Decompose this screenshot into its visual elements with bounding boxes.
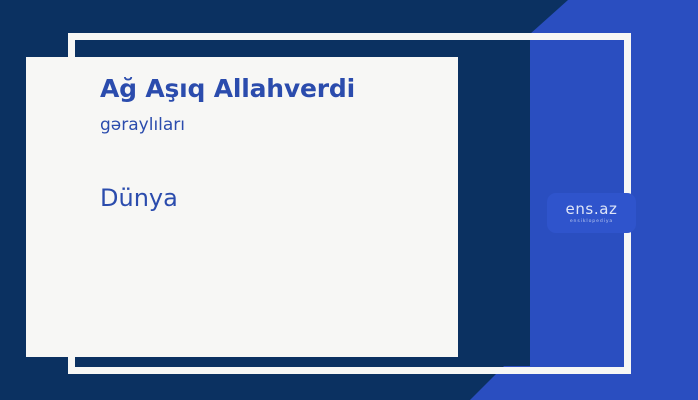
logo-wordmark: ens.az xyxy=(566,202,618,217)
title-slide: Ağ Aşıq Allahverdi gəraylıları Dünya ens… xyxy=(0,0,698,400)
page-subtitle: gəraylıları xyxy=(100,115,430,136)
page-title: Ağ Aşıq Allahverdi xyxy=(100,75,430,103)
logo-tagline: ensiklopediya xyxy=(570,220,613,225)
ens-az-logo-badge[interactable]: ens.az ensiklopediya xyxy=(547,193,636,233)
work-title: Dünya xyxy=(100,184,430,213)
title-text-block: Ağ Aşıq Allahverdi gəraylıları Dünya xyxy=(100,75,430,213)
